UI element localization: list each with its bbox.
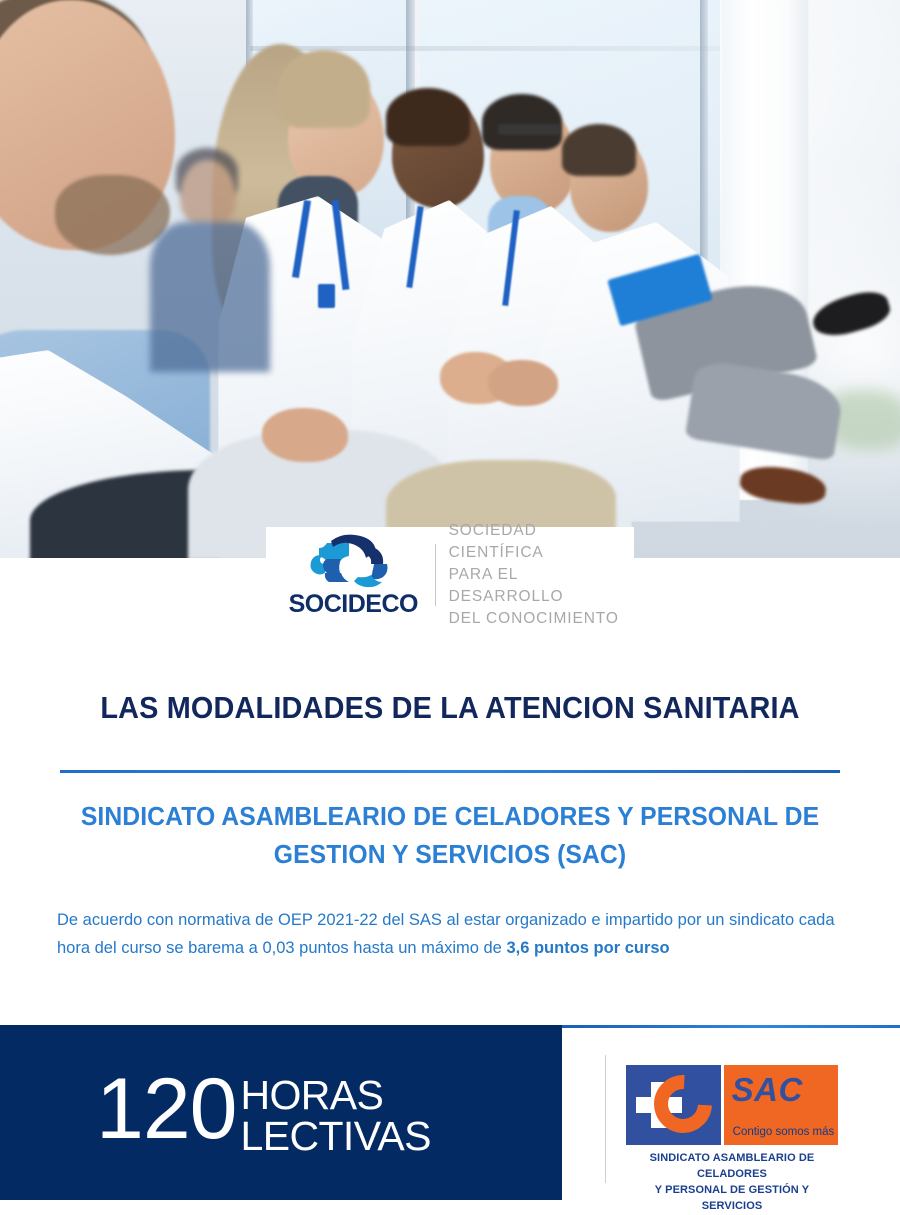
socideco-tagline: SOCIEDAD CIENTÍFICA PARA EL DESARROLLO D… bbox=[449, 520, 634, 630]
person-head bbox=[180, 160, 236, 230]
accreditation-points: 3,6 puntos por curso bbox=[506, 939, 669, 957]
socideco-tagline-line-2: PARA EL DESARROLLO bbox=[449, 564, 634, 608]
person-hand bbox=[262, 408, 348, 462]
accreditation-paragraph: De acuerdo con normativa de OEP 2021-22 … bbox=[57, 906, 857, 963]
sac-emblem-tile bbox=[626, 1065, 721, 1145]
page-title: LAS MODALIDADES DE LA ATENCION SANITARIA bbox=[32, 690, 869, 726]
person-hair bbox=[562, 124, 636, 176]
person-hand bbox=[488, 360, 558, 406]
sac-logo-tiles: SAC Contigo somos más bbox=[626, 1065, 838, 1145]
sac-brand-tile: SAC Contigo somos más bbox=[724, 1065, 838, 1145]
person-hair bbox=[482, 94, 562, 150]
title-divider bbox=[60, 770, 840, 773]
socideco-logo: SOCIDECO SOCIEDAD CIENTÍFICA PARA EL DES… bbox=[266, 527, 634, 622]
hours-number: 120 bbox=[96, 1073, 237, 1147]
bottom-bar: 120 HORAS LECTIVAS SAC Contigo somos más… bbox=[0, 1025, 900, 1200]
sac-caption-line-2: Y PERSONAL DE GESTIÓN Y SERVICIOS bbox=[626, 1183, 838, 1215]
logo-divider bbox=[435, 544, 436, 606]
sac-slogan: Contigo somos más bbox=[733, 1126, 835, 1138]
sac-panel-top-rule bbox=[562, 1025, 900, 1028]
organization-subtitle: SINDICATO ASAMBLEARIO DE CELADORES Y PER… bbox=[61, 798, 840, 873]
person-glasses bbox=[498, 124, 560, 135]
hours-word-horas: HORAS bbox=[241, 1076, 431, 1114]
hours-banner: 120 HORAS LECTIVAS bbox=[0, 1025, 562, 1200]
sac-panel-divider bbox=[605, 1055, 606, 1183]
sac-caption-line-1: SINDICATO ASAMBLEARIO DE CELADORES bbox=[626, 1151, 838, 1183]
hours-word-lectivas: LECTIVAS bbox=[241, 1117, 431, 1155]
socideco-tagline-line-3: DEL CONOCIMIENTO bbox=[449, 608, 634, 630]
person-badge bbox=[318, 284, 335, 308]
sac-c-letter-icon bbox=[642, 1065, 721, 1145]
hero-photo bbox=[0, 0, 900, 558]
head-silhouette-puzzle-icon bbox=[305, 533, 401, 591]
person-hair-front bbox=[278, 50, 370, 128]
socideco-logo-mark-wrap: SOCIDECO bbox=[266, 527, 435, 622]
sac-caption: SINDICATO ASAMBLEARIO DE CELADORES Y PER… bbox=[626, 1151, 838, 1215]
socideco-wordmark: SOCIDECO bbox=[289, 592, 418, 617]
accreditation-text: De acuerdo con normativa de OEP 2021-22 … bbox=[57, 911, 835, 957]
hours-words: HORAS LECTIVAS bbox=[237, 1073, 431, 1155]
sac-logo: SAC Contigo somos más SINDICATO ASAMBLEA… bbox=[626, 1065, 838, 1215]
sac-brand-text: SAC bbox=[732, 1073, 803, 1106]
person-lab-coat bbox=[150, 222, 270, 372]
person-hair bbox=[386, 88, 470, 146]
socideco-tagline-line-1: SOCIEDAD CIENTÍFICA bbox=[449, 520, 634, 564]
hours-block: 120 HORAS LECTIVAS bbox=[96, 1073, 431, 1155]
